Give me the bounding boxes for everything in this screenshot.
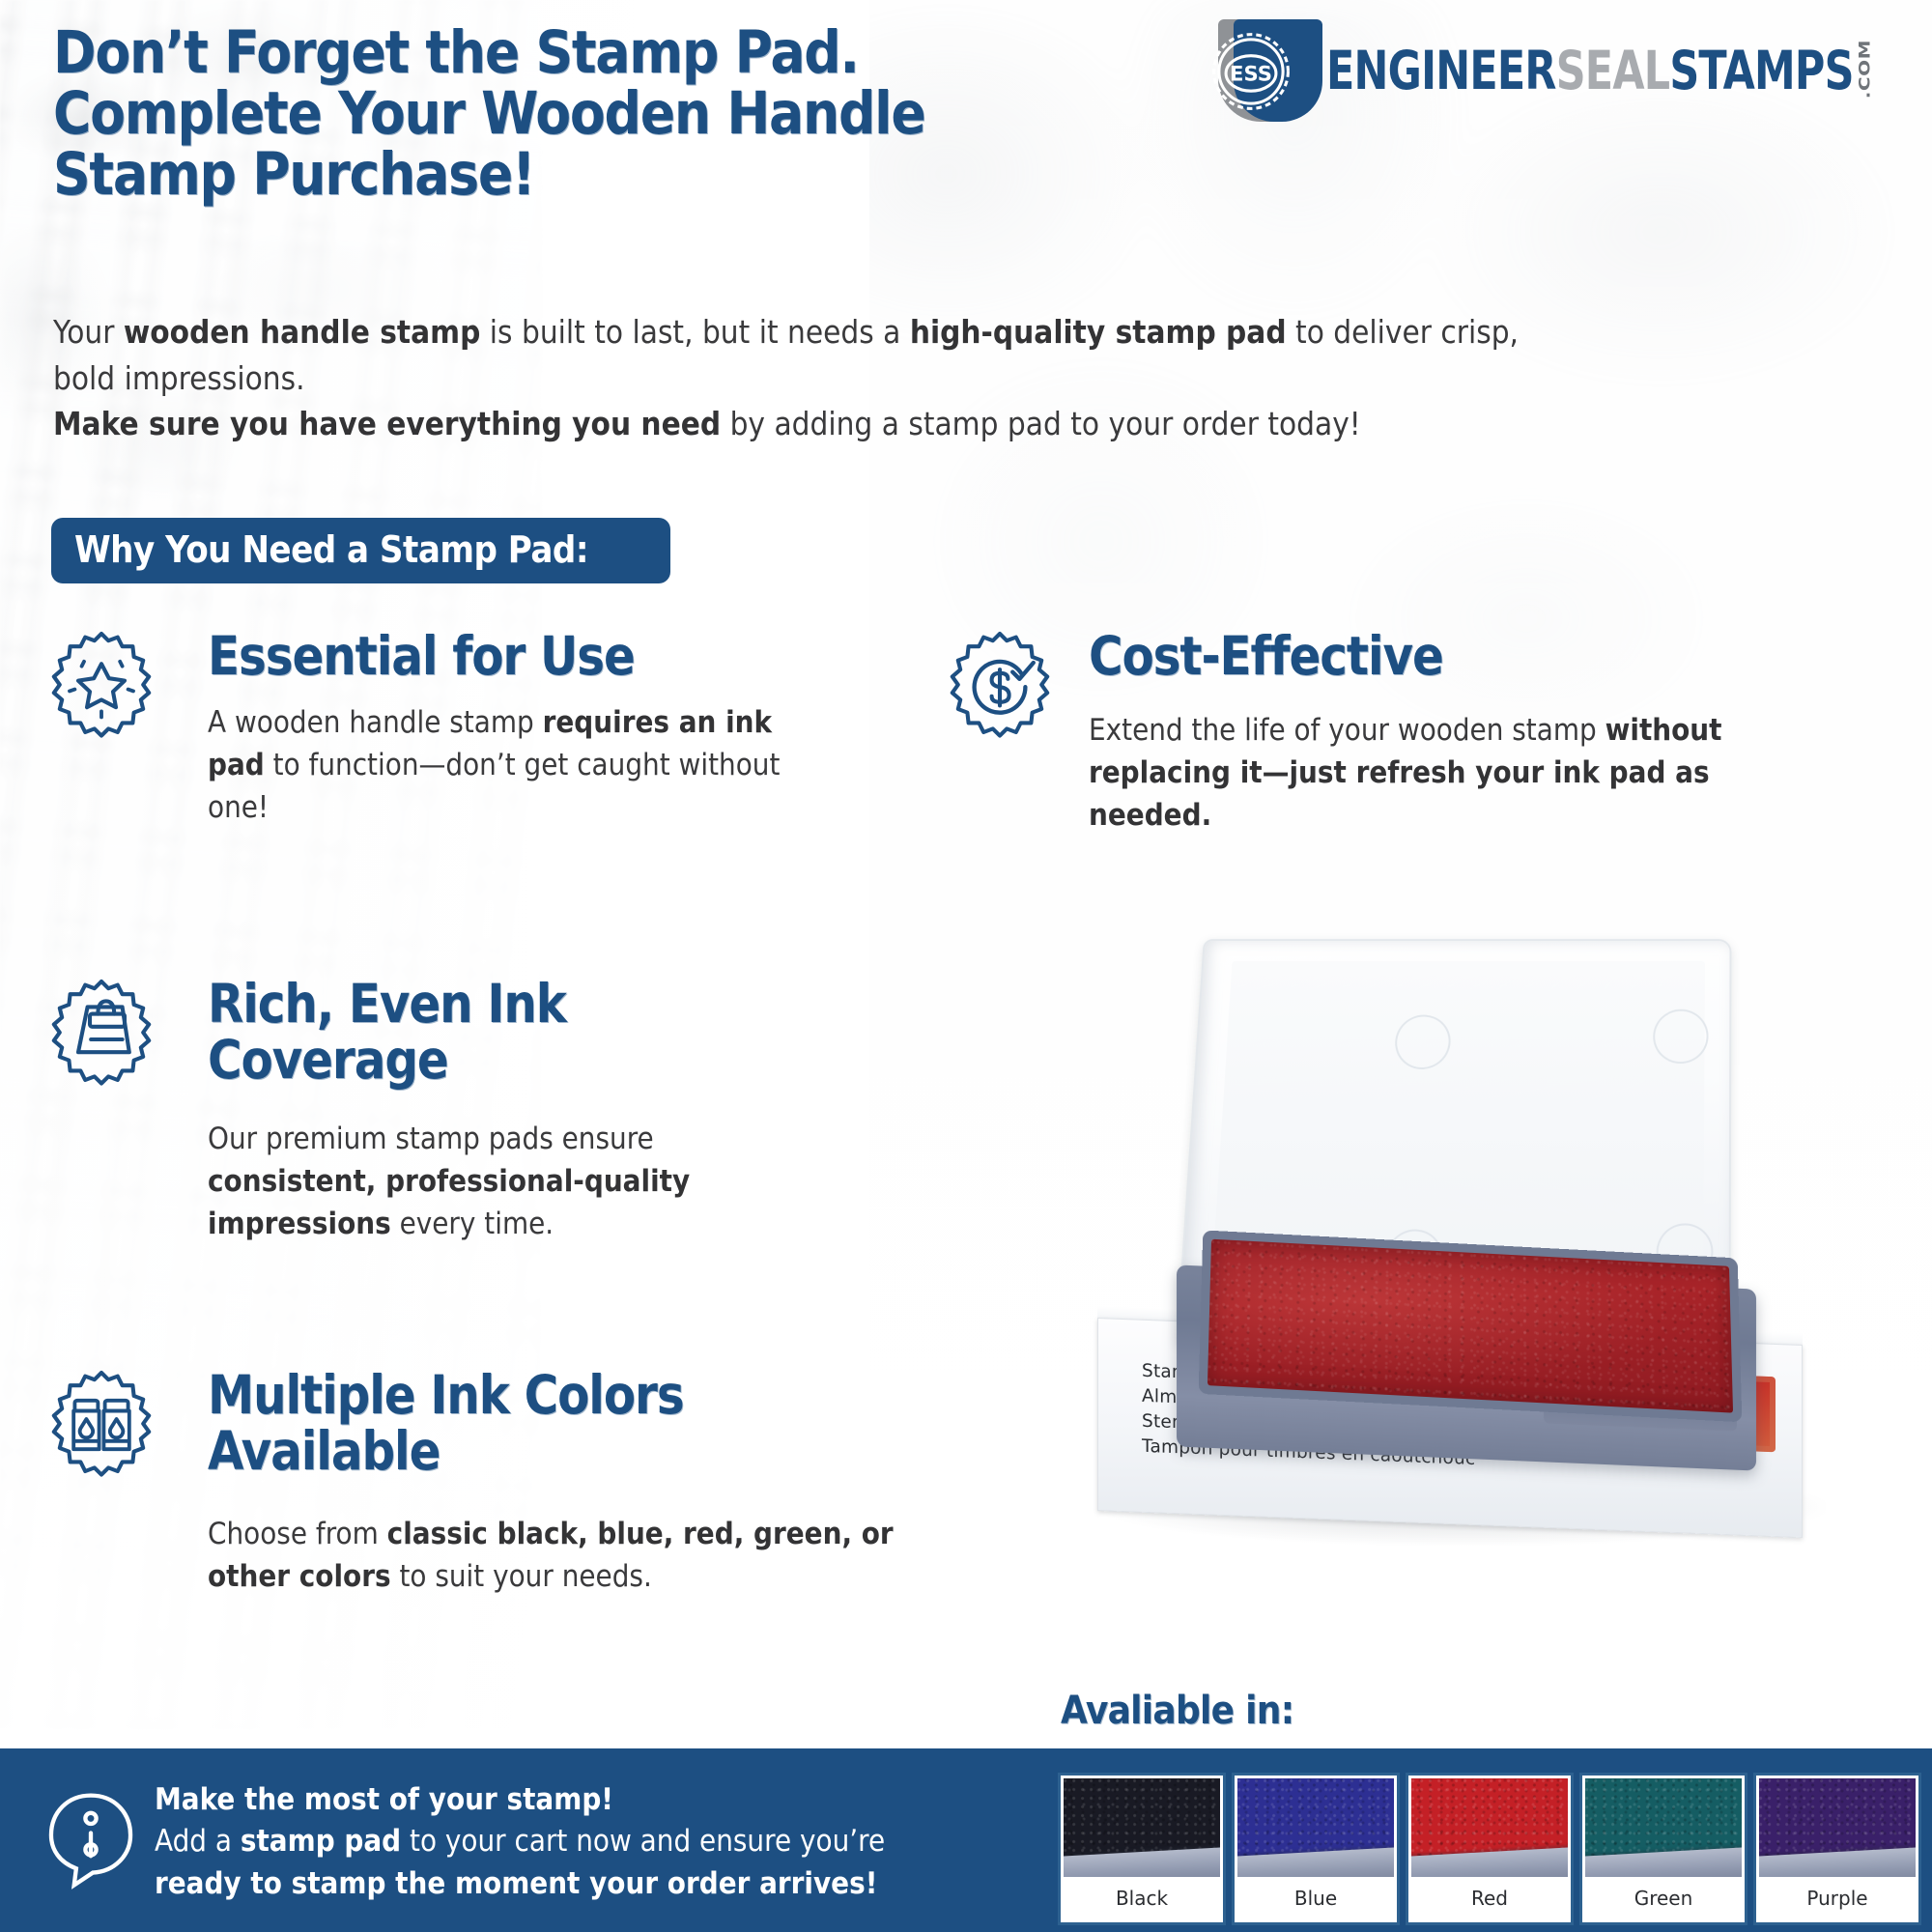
swatch-image bbox=[1064, 1778, 1220, 1877]
cta-line2-seg-2: to your cart now and ensure you’re bbox=[401, 1824, 885, 1859]
intro-bold-3: Make sure you have everything you need bbox=[53, 405, 721, 442]
rubber-stamp-badge-icon bbox=[43, 976, 159, 1092]
swatch-image bbox=[1411, 1778, 1568, 1877]
feature-desc-seg-1: A wooden handle stamp bbox=[208, 705, 543, 740]
feature-body: Essential for Use A wooden handle stamp … bbox=[208, 628, 894, 829]
section-banner-label: Why You Need a Stamp Pad: bbox=[74, 531, 588, 568]
feature-title-line-2: Coverage bbox=[208, 1032, 811, 1088]
stamp-pad-ink-surface bbox=[1207, 1239, 1733, 1413]
logo-badge: ESS bbox=[1201, 17, 1322, 124]
swatch-red[interactable]: Red bbox=[1408, 1776, 1571, 1922]
swatch-label: Red bbox=[1411, 1877, 1568, 1919]
feature-body: Multiple Ink Colors Available Choose fro… bbox=[208, 1367, 1029, 1598]
cta-text: Make the most of your stamp! Add a stamp… bbox=[155, 1779, 937, 1905]
logo-word-engineer: ENGINEER bbox=[1326, 44, 1556, 98]
feature-description: A wooden handle stamp requires an ink pa… bbox=[208, 701, 825, 829]
product-photo-stamp-pad: C-S Stamp pad for rubber stamps Almohadi… bbox=[1082, 927, 1845, 1584]
intro-bold-2: high-quality stamp pad bbox=[910, 313, 1287, 351]
lid-dimple bbox=[1653, 1009, 1709, 1064]
swatch-pad-edge bbox=[1237, 1847, 1394, 1877]
feature-desc-seg-1: Extend the life of your wooden stamp bbox=[1089, 713, 1605, 748]
page-title: Don’t Forget the Stamp Pad. Complete You… bbox=[53, 23, 1107, 205]
swatch-image bbox=[1759, 1778, 1916, 1877]
intro-seg-4: by adding a stamp pad to your order toda… bbox=[721, 405, 1361, 442]
swatch-blue[interactable]: Blue bbox=[1235, 1776, 1397, 1922]
section-banner: Why You Need a Stamp Pad: bbox=[51, 518, 670, 583]
feature-essential-for-use: Essential for Use A wooden handle stamp … bbox=[43, 628, 894, 829]
swatch-pad-edge bbox=[1759, 1847, 1916, 1877]
intro-bold-1: wooden handle stamp bbox=[124, 313, 481, 351]
info-speech-bubble-icon bbox=[39, 1785, 143, 1893]
headline-line-3: Stamp Purchase! bbox=[53, 145, 1107, 206]
infographic-page: Don’t Forget the Stamp Pad. Complete You… bbox=[0, 0, 1932, 1932]
swatch-pad-edge bbox=[1411, 1847, 1568, 1877]
feature-title: Rich, Even Ink Coverage bbox=[208, 976, 811, 1089]
color-swatch-list: Black Blue Red Green Purple bbox=[1061, 1776, 1918, 1922]
swatch-purple[interactable]: Purple bbox=[1756, 1776, 1918, 1922]
available-in-heading: Avaliable in: bbox=[1061, 1689, 1293, 1733]
feature-description: Extend the life of your wooden stamp wit… bbox=[1089, 709, 1826, 837]
intro-paragraph: Your wooden handle stamp is built to las… bbox=[53, 309, 1557, 447]
feature-desc-seg-2: to function—don’t get caught without one… bbox=[208, 748, 780, 825]
ink-bottles-badge-icon bbox=[43, 1367, 159, 1483]
headline-line-1: Don’t Forget the Stamp Pad. bbox=[53, 23, 1107, 84]
cta-line-2: Add a stamp pad to your cart now and ens… bbox=[155, 1821, 937, 1862]
feature-multiple-ink-colors: Multiple Ink Colors Available Choose fro… bbox=[43, 1367, 1029, 1598]
swatch-label: Green bbox=[1585, 1877, 1742, 1919]
cta-line2-bold: stamp pad bbox=[241, 1824, 401, 1859]
feature-body: Rich, Even Ink Coverage Our premium stam… bbox=[208, 976, 894, 1245]
lid-dimple bbox=[1394, 1015, 1452, 1069]
feature-title: Multiple Ink Colors Available bbox=[208, 1367, 930, 1480]
feature-rich-even-ink-coverage: Rich, Even Ink Coverage Our premium stam… bbox=[43, 976, 894, 1245]
swatch-label: Blue bbox=[1237, 1877, 1394, 1919]
logo-word-stamps: STAMPS bbox=[1669, 44, 1853, 98]
cta-line2-seg-1: Add a bbox=[155, 1824, 241, 1859]
logo-wordmark: ENGINEER SEAL STAMPS .COM bbox=[1326, 40, 1871, 100]
dollar-check-badge-icon bbox=[942, 628, 1058, 744]
swatch-label: Black bbox=[1064, 1877, 1220, 1919]
swatch-black[interactable]: Black bbox=[1061, 1776, 1223, 1922]
feature-title-line-1: Multiple Ink Colors bbox=[208, 1367, 930, 1423]
star-badge-icon bbox=[43, 628, 159, 744]
header: Don’t Forget the Stamp Pad. Complete You… bbox=[53, 23, 1251, 205]
feature-desc-seg-2: every time. bbox=[391, 1207, 554, 1241]
swatch-image bbox=[1585, 1778, 1742, 1877]
swatch-image bbox=[1237, 1778, 1394, 1877]
feature-desc-seg-1: Our premium stamp pads ensure bbox=[208, 1122, 654, 1156]
intro-seg-2: is built to last, but it needs a bbox=[480, 313, 909, 351]
swatch-pad-edge bbox=[1064, 1847, 1220, 1877]
cta-line-1: Make the most of your stamp! bbox=[155, 1779, 937, 1821]
swatch-green[interactable]: Green bbox=[1582, 1776, 1745, 1922]
feature-title-line-2: Available bbox=[208, 1423, 930, 1479]
swatch-pad-edge bbox=[1585, 1847, 1742, 1877]
swatch-label: Purple bbox=[1759, 1877, 1916, 1919]
gear-icon: ESS bbox=[1205, 25, 1297, 118]
feature-description: Our premium stamp pads ensure consistent… bbox=[208, 1118, 825, 1245]
feature-title: Cost-Effective bbox=[1089, 628, 1809, 684]
feature-body: Cost-Effective Extend the life of your w… bbox=[1089, 628, 1908, 837]
brand-logo[interactable]: ESS ENGINEER SEAL STAMPS .COM bbox=[1201, 17, 1932, 124]
intro-seg-1: Your bbox=[53, 313, 124, 351]
feature-description: Choose from classic black, blue, red, gr… bbox=[208, 1513, 947, 1598]
logo-badge-text: ESS bbox=[1230, 62, 1272, 86]
feature-title-line-1: Rich, Even Ink bbox=[208, 976, 811, 1032]
feature-desc-seg-2: to suit your needs. bbox=[391, 1559, 652, 1594]
feature-desc-seg-1: Choose from bbox=[208, 1517, 387, 1551]
cta-line-3: ready to stamp the moment your order arr… bbox=[155, 1863, 937, 1905]
feature-cost-effective: Cost-Effective Extend the life of your w… bbox=[942, 628, 1908, 837]
feature-title: Essential for Use bbox=[208, 628, 811, 684]
logo-word-seal: SEAL bbox=[1556, 44, 1670, 98]
headline-line-2: Complete Your Wooden Handle bbox=[53, 84, 1107, 145]
logo-tld: .COM bbox=[1857, 40, 1872, 99]
